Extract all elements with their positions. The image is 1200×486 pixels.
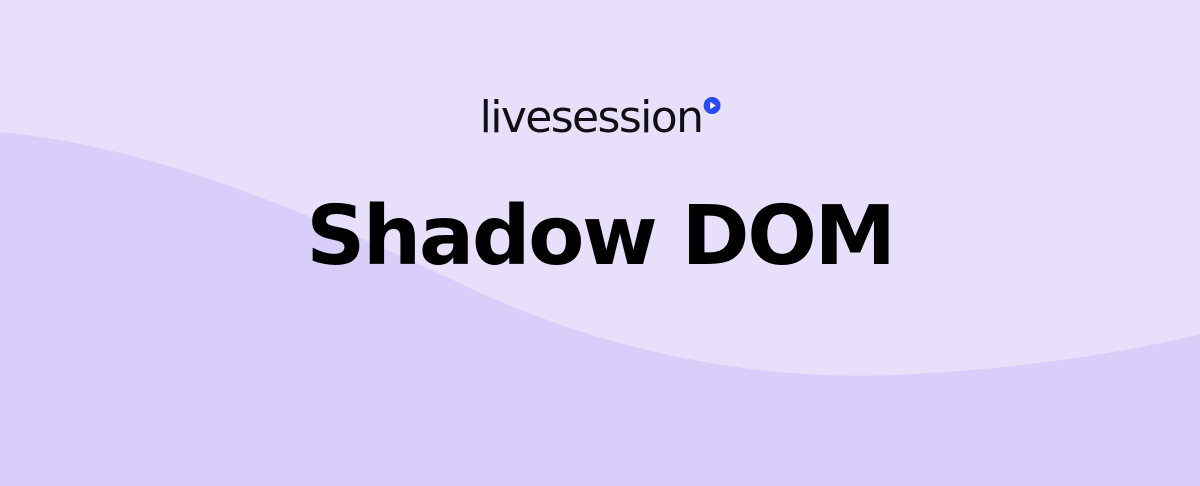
banner-content: livesession Shadow DOM <box>0 0 1200 486</box>
page-title: Shadow DOM <box>0 196 1200 278</box>
play-circle-icon <box>703 97 720 114</box>
article-hero-banner: livesession Shadow DOM <box>0 0 1200 486</box>
logo-wordmark: livesession <box>480 96 703 140</box>
livesession-logo[interactable]: livesession <box>480 96 721 140</box>
